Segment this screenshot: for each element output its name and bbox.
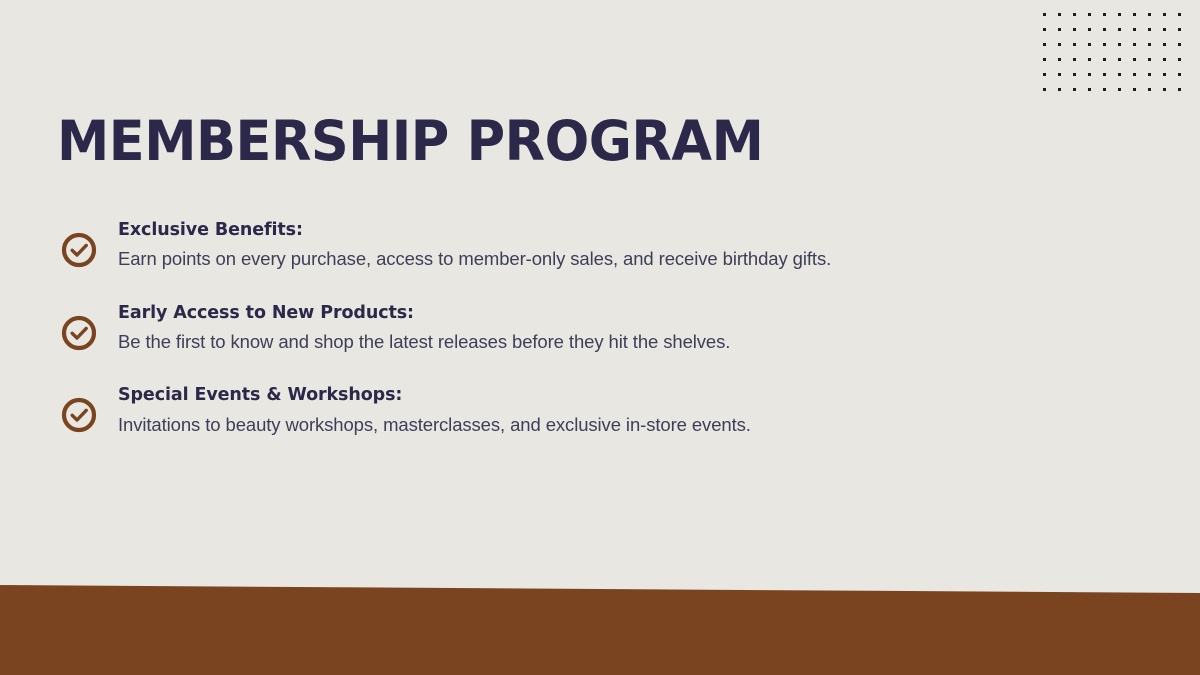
grid-dot <box>1088 88 1091 91</box>
grid-dot <box>1118 58 1121 61</box>
grid-dot <box>1148 73 1151 76</box>
slide-canvas: MEMBERSHIP PROGRAM Exclusive Benefits: E… <box>0 0 1200 675</box>
grid-dot <box>1178 73 1181 76</box>
grid-dot <box>1058 43 1061 46</box>
list-item: Early Access to New Products: Be the fir… <box>57 301 887 356</box>
bottom-accent-band <box>0 575 1200 675</box>
grid-dot <box>1163 28 1166 31</box>
grid-dot <box>1088 58 1091 61</box>
grid-dot <box>1073 73 1076 76</box>
grid-dot <box>1088 43 1091 46</box>
grid-dot <box>1163 43 1166 46</box>
grid-dot <box>1148 28 1151 31</box>
grid-dot <box>1178 58 1181 61</box>
grid-dot <box>1178 13 1181 16</box>
grid-dot <box>1163 73 1166 76</box>
grid-dot <box>1103 28 1106 31</box>
grid-dot <box>1133 13 1136 16</box>
grid-dot <box>1058 13 1061 16</box>
list-item: Special Events & Workshops: Invitations … <box>57 383 887 438</box>
check-circle-icon <box>61 315 97 351</box>
dot-grid-decoration <box>1043 13 1185 95</box>
list-item-body: Earn points on every purchase, access to… <box>118 246 878 272</box>
grid-dot <box>1133 58 1136 61</box>
grid-dot <box>1163 13 1166 16</box>
grid-dot <box>1148 43 1151 46</box>
grid-dot <box>1073 43 1076 46</box>
list-item-heading: Early Access to New Products: <box>118 301 887 326</box>
grid-dot <box>1103 43 1106 46</box>
grid-dot <box>1118 13 1121 16</box>
grid-dot <box>1043 28 1046 31</box>
grid-dot <box>1088 13 1091 16</box>
list-item-heading: Special Events & Workshops: <box>118 383 887 408</box>
grid-dot <box>1058 28 1061 31</box>
grid-dot <box>1073 13 1076 16</box>
grid-dot <box>1058 73 1061 76</box>
grid-dot <box>1148 13 1151 16</box>
grid-dot <box>1043 88 1046 91</box>
grid-dot <box>1178 43 1181 46</box>
grid-dot <box>1043 43 1046 46</box>
list-item-body: Invitations to beauty workshops, masterc… <box>118 412 878 438</box>
grid-dot <box>1148 58 1151 61</box>
grid-dot <box>1088 28 1091 31</box>
grid-dot <box>1088 73 1091 76</box>
grid-dot <box>1058 58 1061 61</box>
grid-dot <box>1103 73 1106 76</box>
grid-dot <box>1103 58 1106 61</box>
grid-dot <box>1148 88 1151 91</box>
check-circle-icon <box>61 232 97 268</box>
grid-dot <box>1133 28 1136 31</box>
grid-dot <box>1118 43 1121 46</box>
grid-dot <box>1133 43 1136 46</box>
grid-dot <box>1163 58 1166 61</box>
grid-dot <box>1163 88 1166 91</box>
grid-dot <box>1178 28 1181 31</box>
grid-dot <box>1178 88 1181 91</box>
grid-dot <box>1133 88 1136 91</box>
grid-dot <box>1103 88 1106 91</box>
grid-dot <box>1118 88 1121 91</box>
page-title: MEMBERSHIP PROGRAM <box>57 113 763 171</box>
check-circle-icon <box>61 397 97 433</box>
grid-dot <box>1043 13 1046 16</box>
grid-dot <box>1133 73 1136 76</box>
list-item-heading: Exclusive Benefits: <box>118 218 887 243</box>
grid-dot <box>1058 88 1061 91</box>
grid-dot <box>1118 73 1121 76</box>
grid-dot <box>1073 58 1076 61</box>
grid-dot <box>1118 28 1121 31</box>
grid-dot <box>1043 58 1046 61</box>
grid-dot <box>1073 88 1076 91</box>
grid-dot <box>1103 13 1106 16</box>
grid-dot <box>1043 73 1046 76</box>
list-item: Exclusive Benefits: Earn points on every… <box>57 218 887 273</box>
grid-dot <box>1073 28 1076 31</box>
list-item-body: Be the first to know and shop the latest… <box>118 329 878 355</box>
benefits-list: Exclusive Benefits: Earn points on every… <box>57 218 887 438</box>
